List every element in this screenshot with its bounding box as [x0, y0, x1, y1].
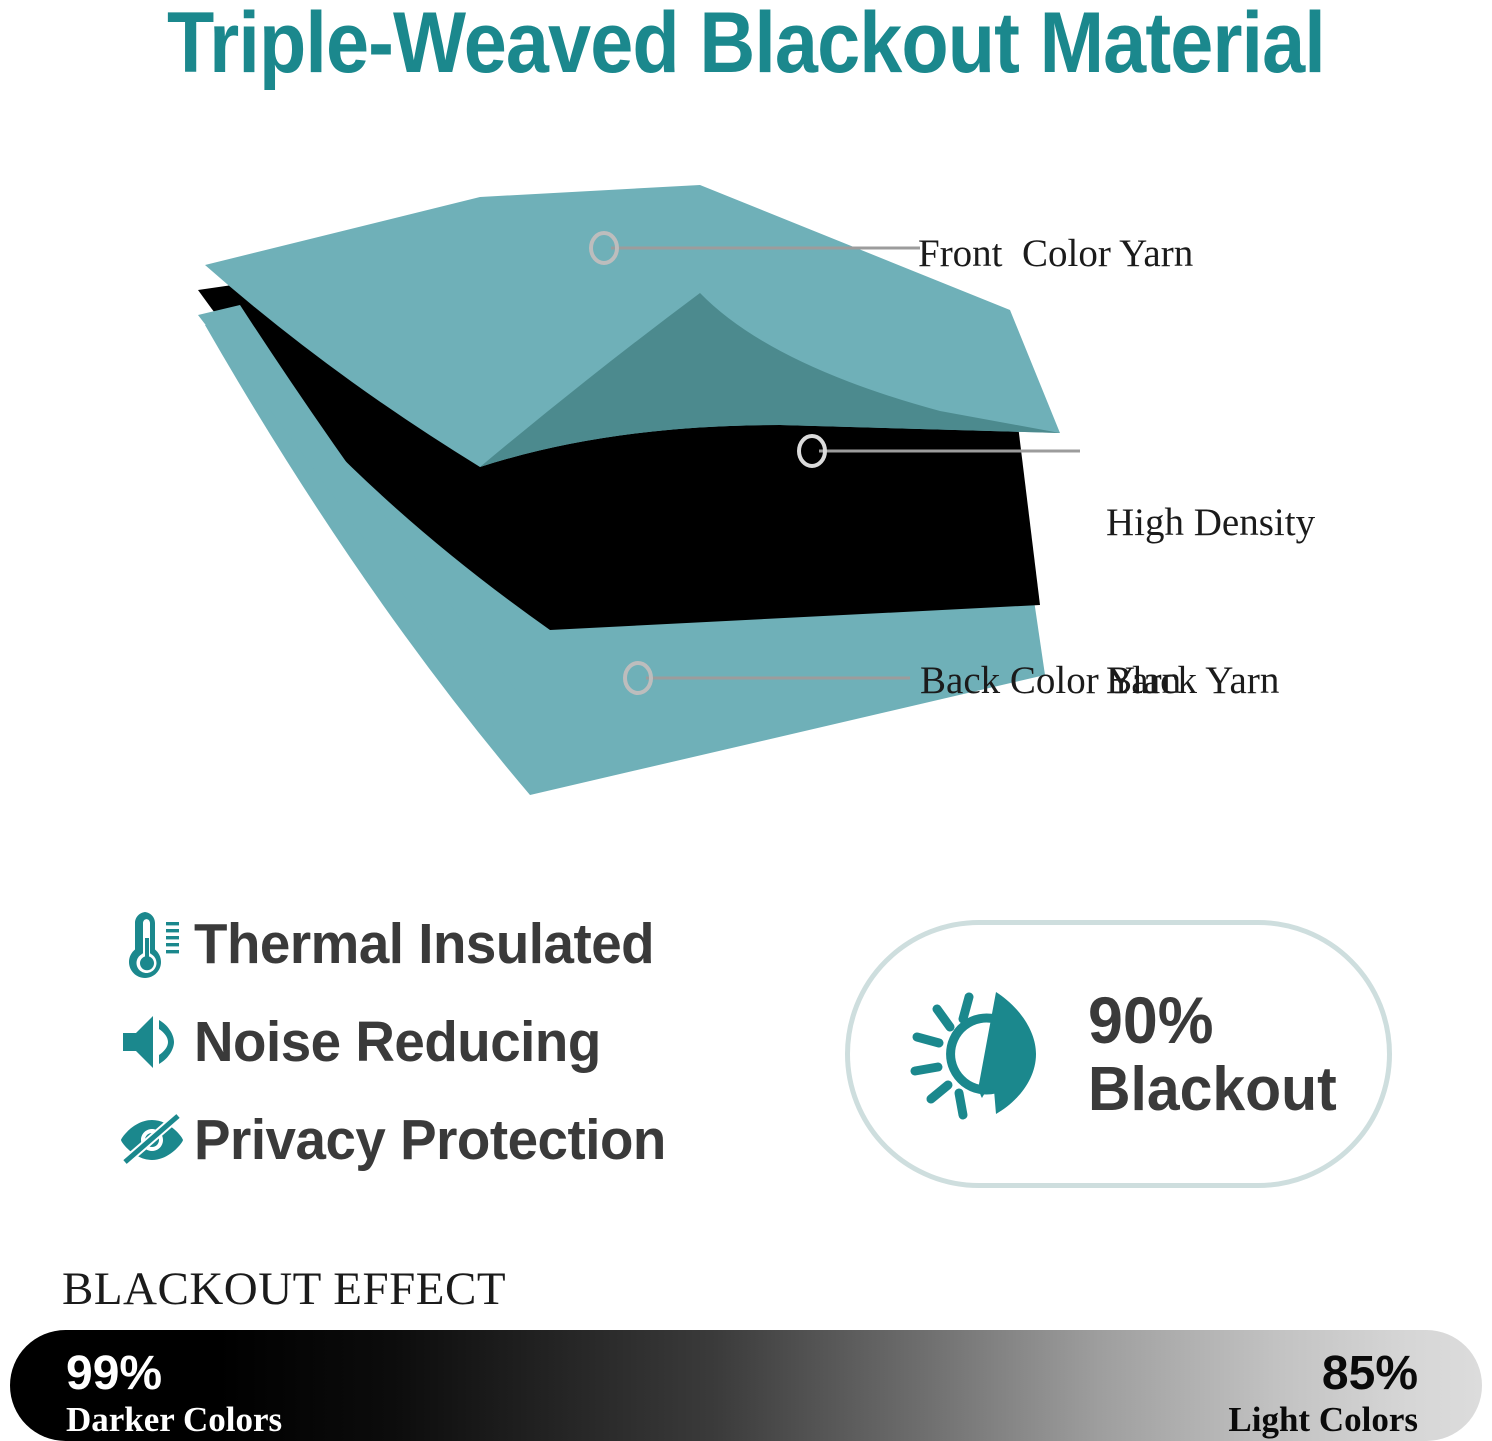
feature-label-privacy-protection: Privacy Protection: [194, 1107, 666, 1173]
feature-label-noise-reducing: Noise Reducing: [194, 1009, 601, 1075]
feature-item-privacy-protection: Privacy Protection: [110, 1091, 810, 1189]
eye-slash-icon: [110, 1112, 194, 1168]
curtain-shape: [979, 992, 1036, 1114]
blackout-word: Blackout: [1088, 1059, 1337, 1121]
blackout-effect-gradient-bar: 99% Darker Colors 85% Light Colors: [10, 1330, 1482, 1441]
blackout-badge-text: 90% Blackout: [1088, 987, 1337, 1121]
page-title: Triple-Weaved Blackout Material: [75, 0, 1418, 93]
product-infographic: Triple-Weaved Blackout Material: [0, 0, 1492, 1441]
feature-item-thermal-insulated: Thermal Insulated: [110, 895, 810, 993]
callout-high-density-black-yarn: High Density Black Yarn: [1106, 392, 1315, 813]
light-colors-percent: 85%: [1228, 1350, 1418, 1398]
callout-back-color-yarn: Back Color Yarn: [920, 655, 1181, 708]
darker-colors-label: Darker Colors: [66, 1401, 282, 1440]
feature-item-noise-reducing: Noise Reducing: [110, 993, 810, 1091]
blackout-badge: 90% Blackout: [845, 920, 1392, 1188]
blackout-percent: 90%: [1088, 987, 1337, 1053]
feature-list: Thermal Insulated Noise Reducing Pri: [110, 895, 810, 1189]
callout-front-color-yarn: Front Color Yarn: [918, 228, 1193, 281]
light-colors-label: Light Colors: [1228, 1401, 1418, 1440]
sun-behind-curtain-icon: [850, 975, 1088, 1133]
darker-colors-percent: 99%: [66, 1350, 282, 1398]
blackout-effect-left-stat: 99% Darker Colors: [66, 1350, 282, 1440]
speaker-sound-icon: [110, 1012, 194, 1072]
blackout-effect-heading: BLACKOUT EFFECT: [62, 1262, 506, 1316]
feature-label-thermal-insulated: Thermal Insulated: [194, 911, 654, 977]
sun-rays: [915, 997, 969, 1115]
thermometer-icon: [110, 908, 194, 980]
callout-black-line1: High Density: [1106, 497, 1315, 550]
blackout-effect-right-stat: 85% Light Colors: [1228, 1350, 1418, 1440]
